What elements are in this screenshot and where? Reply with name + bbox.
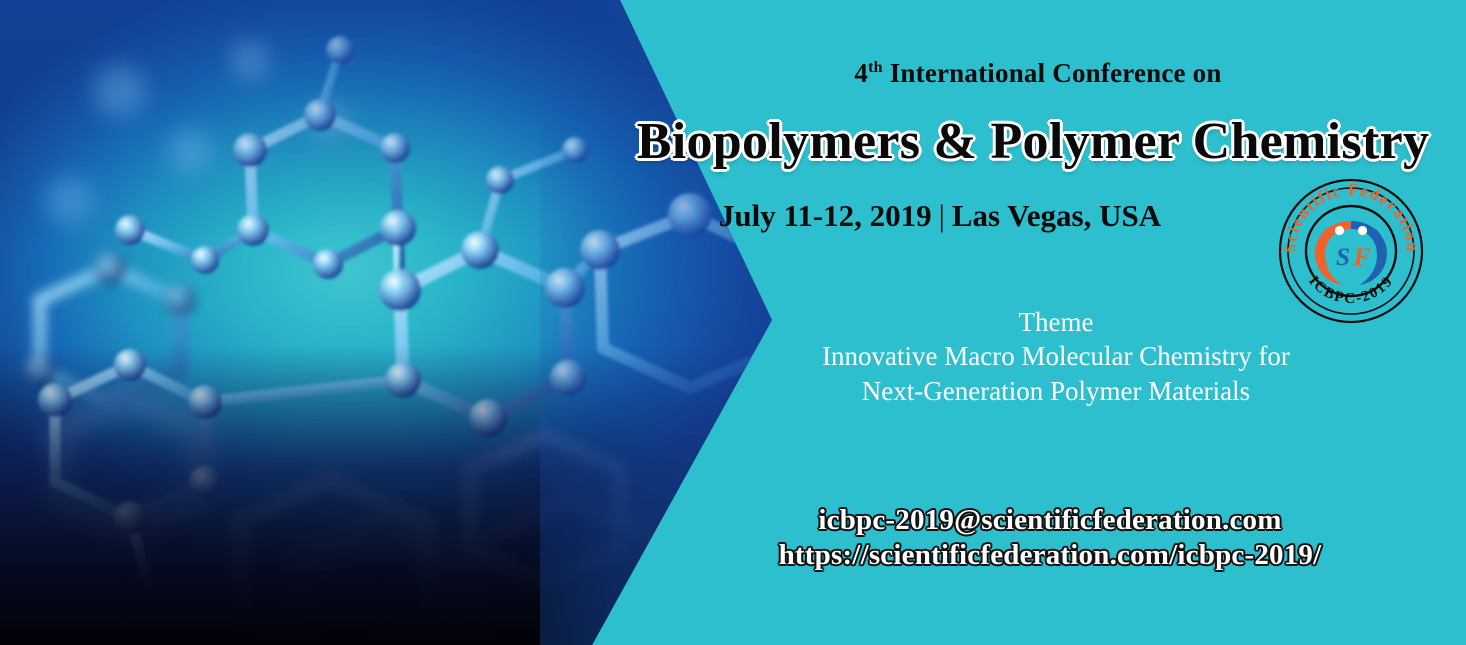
conference-date: July 11-12, 2019 xyxy=(719,198,932,233)
svg-text:F: F xyxy=(1353,244,1371,271)
contact-block: icbpc-2019@scientificfederation.com http… xyxy=(640,503,1460,573)
logo-bottom-text: ICBPC-2019 xyxy=(1305,273,1397,307)
conference-ordinal-line: 4th International Conference on xyxy=(610,58,1466,89)
banner-content: 4th International Conference on Biopolym… xyxy=(0,0,1466,645)
date-location-separator: | xyxy=(932,198,952,233)
logo-top-text: Scientific Federation xyxy=(1280,180,1422,254)
contact-website[interactable]: https://scientificfederation.com/icbpc-2… xyxy=(640,538,1460,573)
theme-line-2: Next-Generation Polymer Materials xyxy=(700,374,1412,409)
ordinal-number: 4 xyxy=(854,58,868,88)
conference-title: Biopolymers & Polymer Chemistry xyxy=(600,112,1466,171)
conference-location: Las Vegas, USA xyxy=(952,198,1161,233)
logo-monogram: S F xyxy=(1336,244,1371,271)
contact-email[interactable]: icbpc-2019@scientificfederation.com xyxy=(640,503,1460,538)
conference-banner: 4th International Conference on Biopolym… xyxy=(0,0,1466,645)
theme-line-1: Innovative Macro Molecular Chemistry for xyxy=(700,339,1412,374)
ordinal-rest: International Conference on xyxy=(883,58,1222,88)
svg-text:S: S xyxy=(1336,244,1350,271)
ordinal-suffix: th xyxy=(868,59,883,76)
date-location-line: July 11-12, 2019|Las Vegas, USA xyxy=(560,198,1320,234)
scientific-federation-logo[interactable]: Scientific Federation ICBPC-2019 S F xyxy=(1277,177,1425,325)
